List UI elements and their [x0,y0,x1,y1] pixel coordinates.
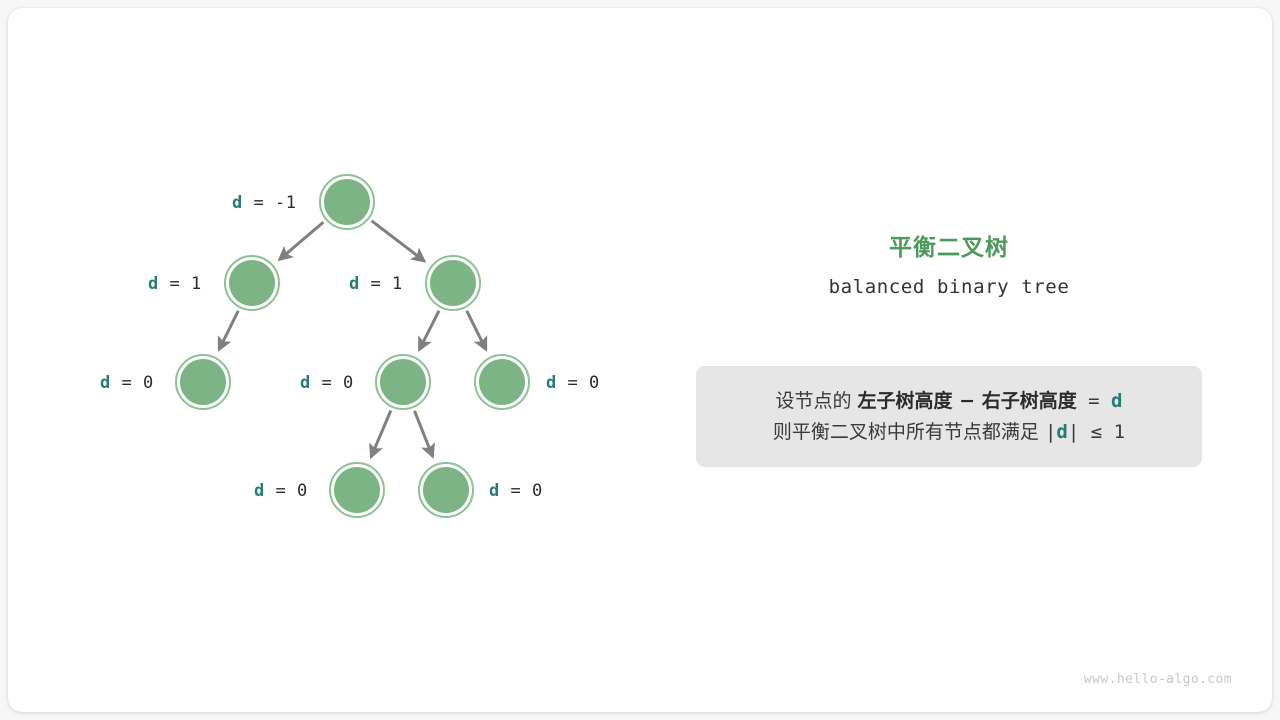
d-variable-2: d [1056,421,1067,443]
definition-box: 设节点的 左子树高度 − 右子树高度 = d 则平衡二叉树中所有节点都满足 |d… [696,366,1202,467]
site-watermark: www.hello-algo.com [0,672,1232,687]
minus-operator: − [953,390,982,412]
node-fill [380,359,426,405]
tree-node [426,256,480,310]
node-fill [324,179,370,225]
tree-node [330,463,384,517]
balance-factor-variable: d [349,274,360,294]
diagram-canvas: d = -1d = 1d = 1d = 0d = 0d = 0d = 0d = … [0,0,1280,720]
node-balance-factor-label: d = 1 [349,274,403,294]
tree-node [376,355,430,409]
node-balance-factor-label: d = 0 [546,373,600,393]
definition-prefix-2: 则平衡二叉树中所有节点都满足 [773,421,1045,443]
tree-edge [467,311,486,350]
node-fill [430,260,476,306]
tree-node [475,355,529,409]
tree-node [225,256,279,310]
balance-factor-variable: d [232,193,243,213]
balance-factor-variable: d [489,481,500,501]
abs-bar-left: | [1045,421,1056,443]
balance-factor-variable: d [300,373,311,393]
definition-prefix-1: 设节点的 [775,390,857,412]
balance-condition: ≤ 1 [1079,421,1125,443]
balance-factor-variable: d [546,373,557,393]
node-balance-factor-label: d = 1 [148,274,202,294]
tree-edge [279,222,323,260]
balance-factor-value: = -1 [243,193,297,213]
node-fill [479,359,525,405]
balance-factor-value: = 0 [111,373,154,393]
tree-edge [371,411,391,457]
definition-line-2: 则平衡二叉树中所有节点都满足 |d| ≤ 1 [773,417,1125,448]
node-fill [180,359,226,405]
binary-tree-graphic [0,0,1280,720]
tree-node [419,463,473,517]
node-fill [334,467,380,513]
node-balance-factor-label: d = 0 [489,481,543,501]
definition-line-1: 设节点的 左子树高度 − 右子树高度 = d [775,386,1122,417]
node-fill [229,260,275,306]
tree-edge [419,311,439,350]
balance-factor-value: = 0 [500,481,543,501]
balance-factor-value: = 0 [265,481,308,501]
tree-edge [414,411,432,457]
node-balance-factor-label: d = -1 [232,193,296,213]
node-balance-factor-label: d = 0 [254,481,308,501]
tree-nodes [176,175,529,517]
balance-factor-value: = 1 [159,274,202,294]
panel-title: 平衡二叉树 [696,228,1202,262]
tree-edge [219,311,238,350]
d-variable-1: d [1111,390,1122,412]
tree-node [176,355,230,409]
balance-factor-value: = 1 [360,274,403,294]
balance-factor-variable: d [148,274,159,294]
node-balance-factor-label: d = 0 [300,373,354,393]
node-fill [423,467,469,513]
balance-factor-variable: d [100,373,111,393]
balance-factor-value: = 0 [557,373,600,393]
balance-factor-variable: d [254,481,265,501]
tree-node [320,175,374,229]
tree-edge [372,221,425,261]
node-balance-factor-label: d = 0 [100,373,154,393]
left-subtree-height-term: 左子树高度 [858,390,953,412]
equals-operator: = [1077,390,1111,412]
abs-bar-right: | [1068,421,1079,443]
panel-subtitle: balanced binary tree [696,276,1202,298]
balance-factor-value: = 0 [311,373,354,393]
right-subtree-height-term: 右子树高度 [982,390,1077,412]
